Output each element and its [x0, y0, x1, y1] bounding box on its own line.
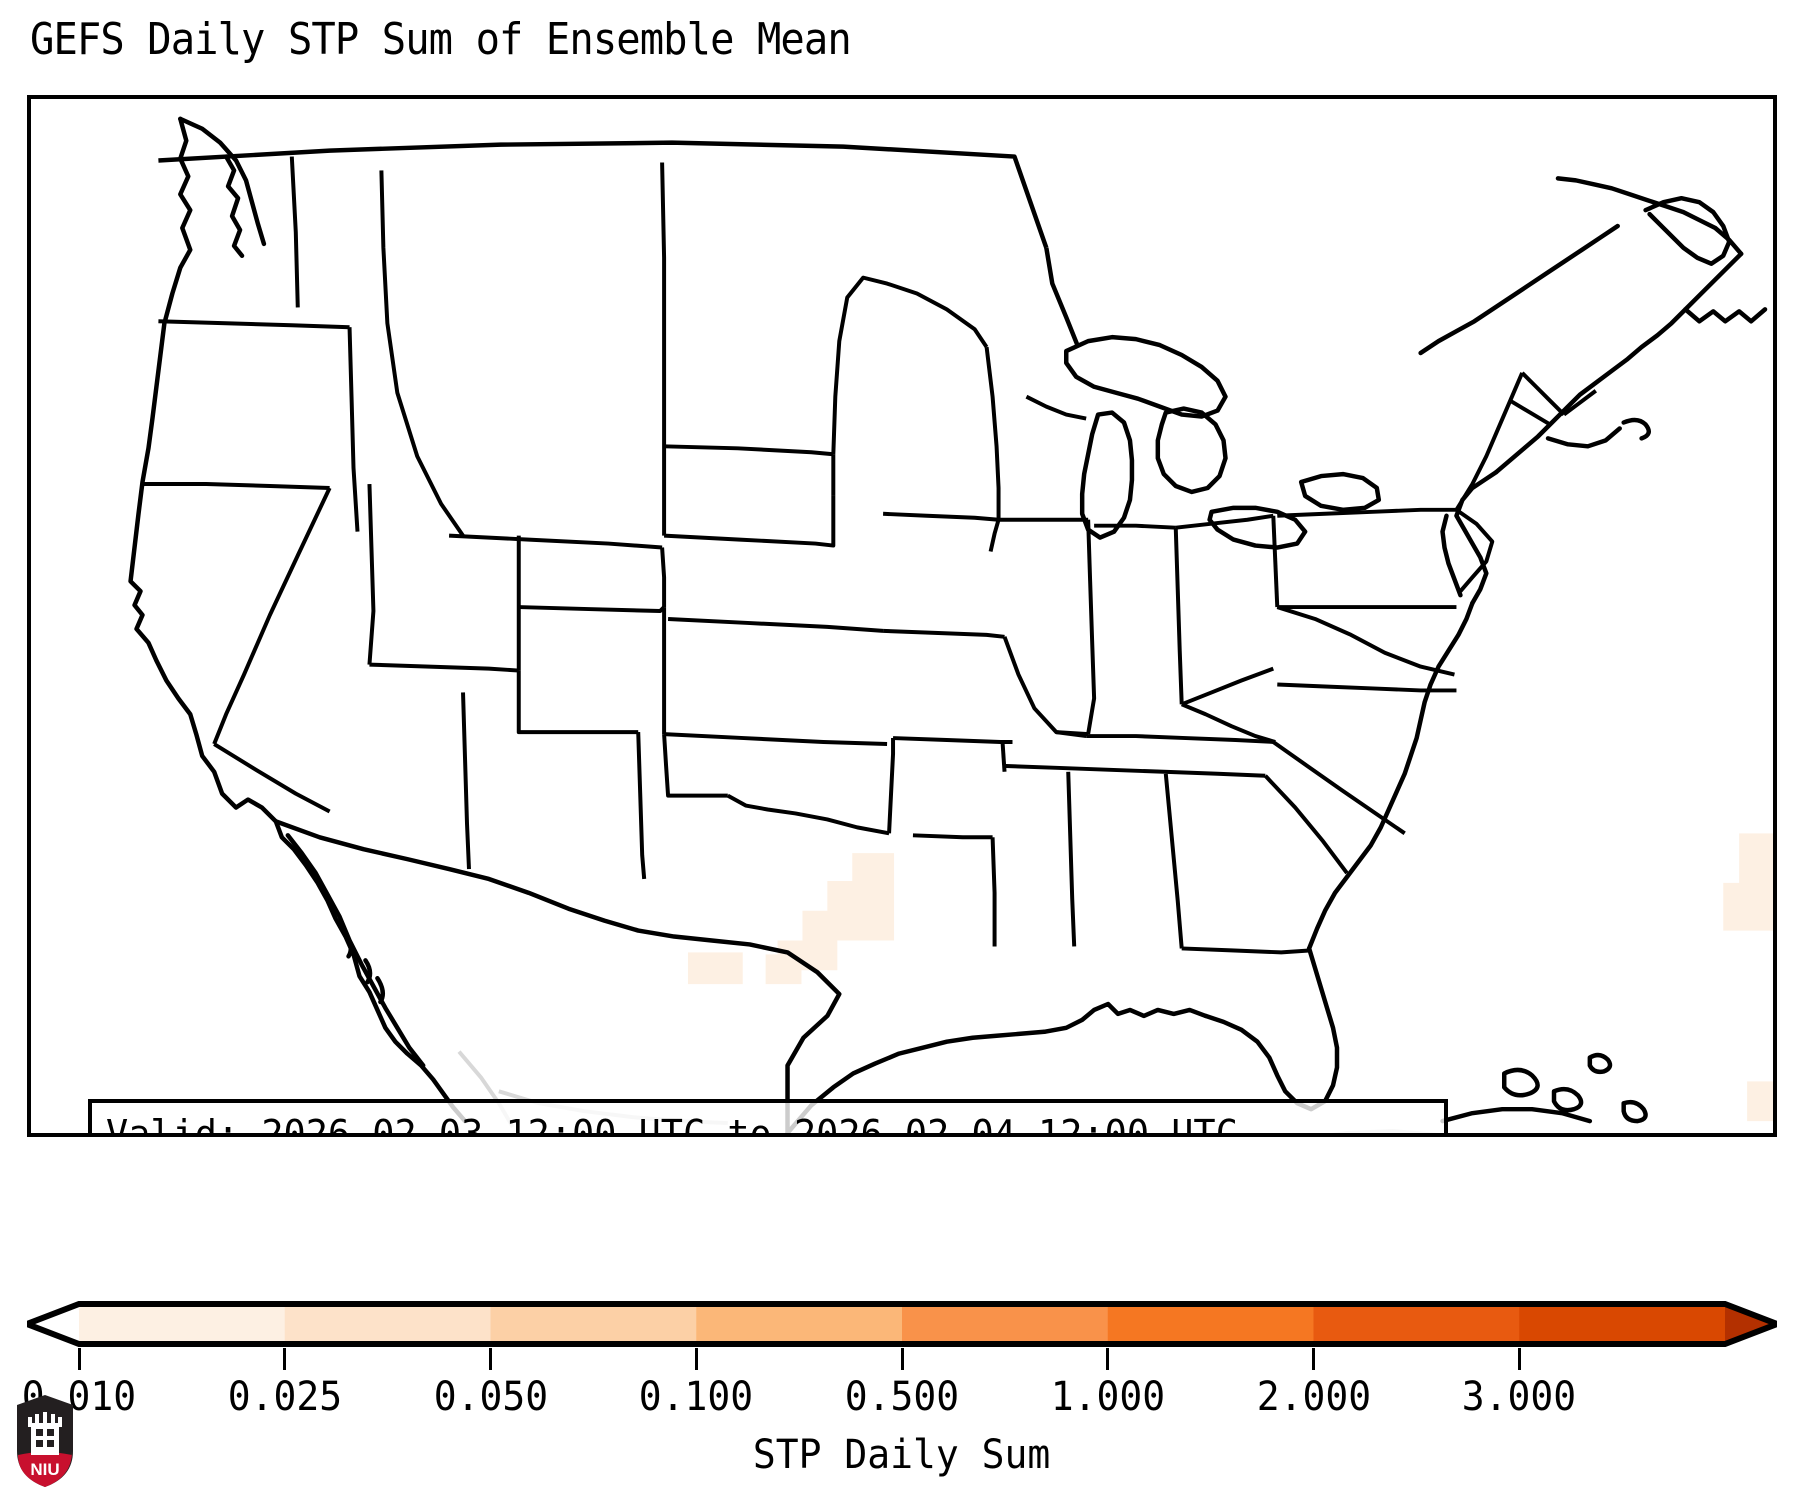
state-line-ut-az [369, 665, 518, 671]
colorbar-segment-2.000 [1314, 1304, 1520, 1344]
border-us-canada-lakes [1046, 248, 1078, 347]
coast-florida-west [1206, 948, 1337, 1109]
colorbar-label-0.025: 0.025 [228, 1374, 342, 1420]
colorbar-axis-title: STP Daily Sum [0, 1432, 1803, 1478]
state-line-ut-nv [369, 484, 373, 665]
state-line-mn-wi [987, 347, 999, 520]
state-line-pa-ny [1277, 510, 1456, 516]
page-title: GEFS Daily STP Sum of Ensemble Mean [30, 14, 851, 65]
colorbar-segment-0.025 [285, 1304, 491, 1344]
state-line-ar-tn-ms [1003, 742, 1005, 772]
state-line-oh-mi [1176, 516, 1274, 528]
coast-cape-cod-long-island [1548, 420, 1649, 446]
lake-ontario [1301, 474, 1379, 510]
colorbar-segment-0.050 [491, 1304, 697, 1344]
state-line-nv-ca [214, 488, 329, 744]
colorbar-tick-1.000 [1106, 1348, 1109, 1370]
state-line-ky-tn [1086, 736, 1275, 742]
niu-logo: NIU [14, 1393, 76, 1489]
contour-patch-atlantic-edge [1723, 833, 1773, 1121]
coast-maine [1685, 309, 1765, 321]
colorbar-segment-0.100 [696, 1304, 902, 1344]
contour-patch-north-texas [778, 853, 894, 970]
state-line-in-mi [1094, 526, 1176, 528]
state-line-va-wv-md [1277, 607, 1454, 674]
state-line-mn-nd-canada [833, 278, 986, 455]
colorbar-tick-labels: 0.0100.0250.0500.1000.5001.0002.0003.000 [0, 1374, 1803, 1428]
colorbar-tick-0.050 [489, 1348, 492, 1370]
state-line-wv-oh [1182, 669, 1274, 705]
valid-time-line: Valid: 2026-02-03 12:00 UTC to 2026-02-0… [106, 1109, 1390, 1137]
annotation-box: Valid: 2026-02-03 12:00 UTC to 2026-02-0… [88, 1099, 1448, 1137]
state-line-wa-or [158, 321, 349, 327]
coastline-layer [131, 119, 1765, 1133]
colorbar-label-0.050: 0.050 [433, 1374, 547, 1420]
contour-shading-layer [688, 833, 1773, 1121]
colorbar-label-3.000: 3.000 [1462, 1374, 1576, 1420]
lake-huron [1158, 409, 1226, 492]
colorbar-tick-0.500 [901, 1348, 904, 1370]
state-line-nd-sd [664, 446, 833, 454]
coast-pacific-northwest [131, 119, 276, 822]
colorbar-segment-0.500 [902, 1304, 1108, 1344]
colorbar-tick-3.000 [1518, 1348, 1521, 1370]
state-line-ky-wv [1182, 704, 1276, 742]
state-line-wa-id [292, 157, 298, 308]
logo-text: NIU [30, 1460, 59, 1479]
colorbar-segment-3.000 [1519, 1304, 1725, 1344]
state-line-ne-states [1510, 373, 1596, 425]
lake-michigan [1082, 413, 1132, 538]
state-line-al-ga [1166, 774, 1182, 949]
state-line-co-nm [519, 671, 638, 733]
state-line-or-id [350, 327, 358, 531]
colorbar-segment-group [79, 1304, 1726, 1344]
state-line-ia-mo [883, 631, 1004, 637]
state-line-il-mo [1005, 637, 1089, 734]
state-line-ms-al [1068, 772, 1074, 947]
colorbar-segment-1.000 [1108, 1304, 1314, 1344]
colorbar-label-0.100: 0.100 [639, 1374, 753, 1420]
state-line-or-ca [142, 484, 329, 488]
state-line-mi-upper [1026, 397, 1086, 419]
state-line-nm-tx [638, 732, 644, 879]
state-line-ok-tx [728, 796, 889, 834]
coast-northeast [1496, 254, 1741, 472]
state-line-oh-pa [1273, 516, 1277, 607]
colorbar-tick-0.025 [283, 1348, 286, 1370]
state-line-ga-fl [1182, 948, 1311, 952]
colorbar-label-2.000: 2.000 [1256, 1374, 1370, 1420]
state-line-in-oh [1176, 528, 1182, 705]
state-line-ok-ar [889, 738, 893, 833]
colorbar[interactable] [27, 1300, 1777, 1348]
state-line-wy-ne [662, 548, 664, 608]
state-line-il-in [1088, 520, 1094, 734]
state-line-ar-la [913, 835, 993, 837]
colorbar-tickmarks [0, 1348, 1803, 1372]
colorbar-label-1.000: 1.000 [1051, 1374, 1165, 1420]
colorbar-segment-0.010 [79, 1304, 285, 1344]
state-line-sd-ne [664, 496, 833, 546]
state-line-ny-vt-ma [1456, 373, 1522, 510]
colorbar-axis-title-text: STP Daily Sum [753, 1432, 1050, 1478]
colorbar-tick-2.000 [1312, 1348, 1315, 1370]
colorbar-tick-0.010 [78, 1348, 81, 1370]
colorbar-tick-0.100 [695, 1348, 698, 1370]
st-lawrence-river [1421, 226, 1618, 353]
state-line-sc-nc [1273, 742, 1404, 833]
contour-patch-west-texas [688, 952, 743, 984]
lake-superior [1066, 337, 1225, 416]
state-line-ne-ks [668, 619, 883, 631]
state-line-ks-ok [664, 734, 887, 744]
state-line-tn-ms-al-ga [1003, 766, 1266, 776]
vancouver-island [180, 119, 264, 244]
state-line-la-ms [993, 837, 995, 946]
state-line-tx-panhandle [664, 734, 728, 796]
state-line-mt-wy [449, 536, 662, 548]
state-line-mn-ia [883, 514, 998, 520]
state-line-ga-sc-nc [1265, 776, 1347, 873]
state-line-mo-ar [893, 738, 1012, 742]
chesapeake-bay-inner [1443, 516, 1461, 595]
map-panel: Valid: 2026-02-03 12:00 UTC to 2026-02-0… [27, 95, 1777, 1137]
state-line-id-mt [381, 170, 463, 535]
state-line-wy-co [519, 607, 664, 611]
coast-gulf-louisiana [1044, 1004, 1205, 1032]
state-line-ia-wi [991, 520, 999, 552]
state-line-az-nm [463, 692, 469, 869]
colorbar-label-0.500: 0.500 [845, 1374, 959, 1420]
state-line-mt-nd [662, 163, 664, 536]
colorbar-swatches[interactable] [27, 1300, 1777, 1348]
map-canvas [31, 99, 1773, 1133]
